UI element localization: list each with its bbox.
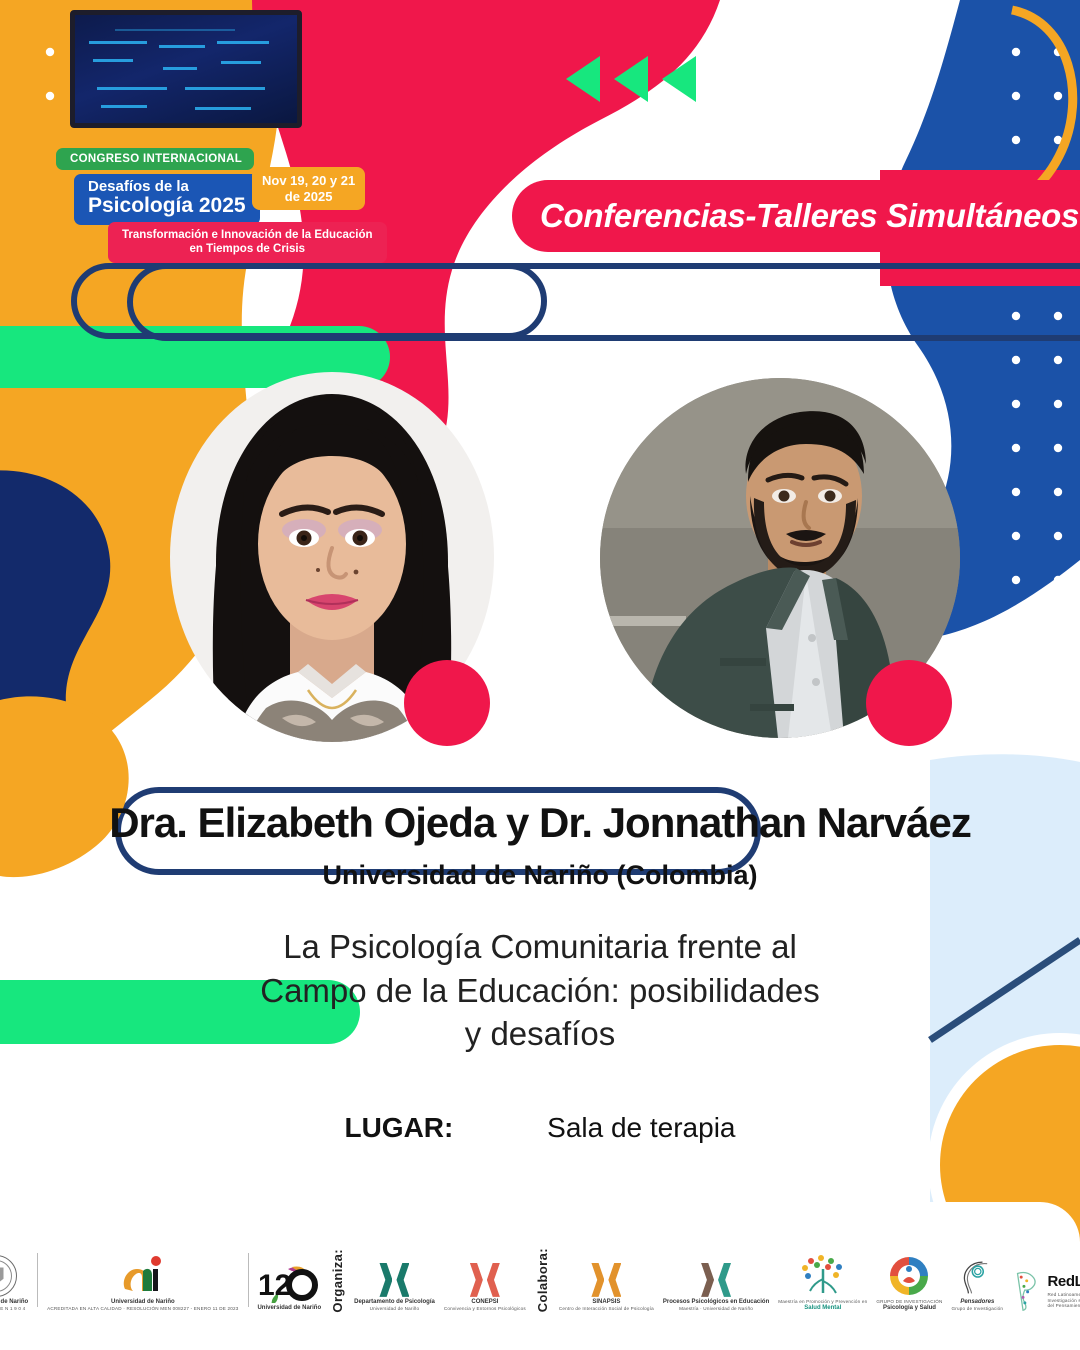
logo-udenar-seal: Universidad de Nariño F U N D A D A E N … — [0, 1255, 28, 1312]
congress-subtitle: Transformación e Innovación de la Educac… — [108, 222, 387, 263]
logo-caption: Universidad de Nariño F U N D A D A E N … — [0, 1299, 28, 1312]
place-row: LUGAR: Sala de terapia — [0, 1112, 1080, 1144]
logo-caption: Departamento de Psicología Universidad d… — [354, 1299, 435, 1312]
logo-redlidep: RedLidep Red Latinoamericana de Investig… — [1012, 1268, 1080, 1312]
logo-caption: Universidad de Nariño — [257, 1305, 321, 1313]
triangle-left-icon — [614, 56, 648, 102]
talk-title: La Psicología Comunitaria frente al Camp… — [0, 925, 1080, 1056]
logo-caption-main: Procesos Psicológicos en Educación — [663, 1299, 769, 1305]
congress-subtitle-line1: Transformación e Innovación de la Educac… — [122, 229, 373, 241]
logo-caption: RedLidep Red Latinoamericana de Investig… — [1047, 1273, 1080, 1309]
logo-salud-mental: Maestría en Promoción y Prevención en Sa… — [778, 1253, 867, 1312]
congress-dates-line2: de 2025 — [285, 189, 333, 204]
place-label: LUGAR: — [344, 1112, 453, 1143]
accent-dot-left — [404, 660, 490, 746]
logo-caption-sub: Maestría · Universidad de Nariño — [663, 1306, 769, 1312]
logo-caption-sub: ACREDITADA EN ALTA CALIDAD · RESOLUCIÓN … — [47, 1306, 238, 1312]
place-value: Sala de terapia — [547, 1112, 735, 1144]
logo-caption-sub: Convivencia y Entornos Psicológicos — [444, 1306, 526, 1312]
logo-caption: SINAPSIS Centro de Interacción Social de… — [559, 1299, 654, 1312]
logo-caption-main: Universidad de Nariño — [111, 1299, 175, 1305]
logo-caption-sub: Centro de Interacción Social de Psicolog… — [559, 1306, 654, 1312]
congress-title-line1: Desafíos de la — [88, 179, 246, 195]
speaker-affiliation: Universidad de Nariño (Colombia) — [0, 860, 1080, 891]
poster-canvas: CONGRESO INTERNACIONAL Desafíos de la Ps… — [0, 0, 1080, 1350]
banner-label: Conferencias-Talleres Simultáneos — [512, 197, 1079, 235]
logo-caption-sub: Red Latinoamericana de Investigación sob… — [1047, 1292, 1080, 1309]
logo-caption-sub: Universidad de Nariño — [354, 1306, 435, 1312]
logo-departamento-psicologia: Departamento de Psicología Universidad d… — [354, 1263, 435, 1312]
talk-title-line2: Campo de la Educación: posibilidades — [0, 969, 1080, 1013]
congress-dates: Nov 19, 20 y 21 de 2025 — [252, 167, 365, 210]
logo-psicologia-y-salud: GRUPO DE INVESTIGACIÓN Psicología y Salu… — [876, 1255, 942, 1312]
organiza-label: Organiza: — [330, 1249, 345, 1313]
divider — [37, 1253, 38, 1307]
logo-caption: CONEPSI Convivencia y Entornos Psicológi… — [444, 1299, 526, 1312]
logo-caption-main: Pensadores — [960, 1299, 994, 1305]
x-butterfly-icon — [701, 1263, 731, 1297]
latin-america-map-icon — [1012, 1268, 1043, 1312]
logo-conepsi: CONEPSI Convivencia y Entornos Psicológi… — [444, 1263, 526, 1312]
congress-subtitle-line2: en Tiempos de Crisis — [190, 243, 305, 255]
speaker-names: Dra. Elizabeth Ojeda y Dr. Jonnathan Nar… — [0, 800, 1080, 846]
x-butterfly-icon — [470, 1263, 500, 1297]
logo-caption-main: Psicología y Salud — [883, 1305, 936, 1311]
logo-caption: Pensadores Grupo de Investigación — [952, 1299, 1004, 1312]
logo-caption-main: Universidad de Nariño — [0, 1299, 28, 1305]
divider — [248, 1253, 249, 1307]
logo-caption: GRUPO DE INVESTIGACIÓN Psicología y Salu… — [876, 1299, 942, 1312]
congress-illustration-screen — [70, 10, 302, 128]
logo-120-anos: 12 Universidad de Nariño — [257, 1263, 321, 1313]
congress-kicker: CONGRESO INTERNACIONAL — [56, 148, 254, 170]
logo-caption-main: Departamento de Psicología — [354, 1299, 435, 1305]
talk-title-line1: La Psicología Comunitaria frente al — [0, 925, 1080, 969]
congress-title-line2: Psicología 2025 — [88, 195, 246, 218]
head-spiral-icon — [959, 1257, 995, 1297]
logo-caption: Maestría en Promoción y Prevención en Sa… — [778, 1299, 867, 1312]
logo-caption-sub: F U N D A D A E N 1 9 0 4 — [0, 1306, 28, 1312]
green-arrows-decoration — [566, 56, 696, 102]
ai-mark-icon — [119, 1255, 167, 1297]
logo-caption: Procesos Psicológicos en Educación Maest… — [663, 1299, 769, 1312]
logo-caption-main: Universidad de Nariño — [257, 1305, 321, 1311]
congress-logo-card: CONGRESO INTERNACIONAL Desafíos de la Ps… — [56, 10, 356, 128]
logo-caption-main: RedLidep — [1047, 1273, 1080, 1290]
simultaneous-sessions-banner: Conferencias-Talleres Simultáneos — [512, 180, 1080, 252]
logo-caption-sub: Grupo de Investigación — [952, 1306, 1004, 1312]
sponsor-logo-strip: Universidad de Nariño F U N D A D A E N … — [0, 1202, 1080, 1350]
logo-row: Universidad de Nariño F U N D A D A E N … — [0, 1240, 1080, 1312]
tree-hands-icon — [797, 1253, 849, 1297]
people-circle-icon — [888, 1255, 930, 1297]
logo-pensadores: Pensadores Grupo de Investigación — [952, 1257, 1004, 1312]
talk-title-line3: y desafíos — [0, 1012, 1080, 1056]
logo-caption-main: SINAPSIS — [592, 1299, 620, 1305]
accent-dot-right — [866, 660, 952, 746]
session-details: Dra. Elizabeth Ojeda y Dr. Jonnathan Nar… — [0, 800, 1080, 1144]
university-seal-icon — [0, 1255, 17, 1297]
logo-sinapsis: SINAPSIS Centro de Interacción Social de… — [559, 1263, 654, 1312]
congress-title: Desafíos de la Psicología 2025 — [74, 174, 260, 225]
congress-dates-line1: Nov 19, 20 y 21 — [262, 173, 355, 188]
logo-acreditacion-ai: Universidad de Nariño ACREDITADA EN ALTA… — [47, 1255, 238, 1312]
logo-caption-main: CONEPSI — [471, 1299, 498, 1305]
logo-caption: Universidad de Nariño ACREDITADA EN ALTA… — [47, 1299, 238, 1312]
triangle-left-icon — [662, 56, 696, 102]
triangle-left-icon — [566, 56, 600, 102]
colabora-label: Colabora: — [535, 1248, 550, 1312]
logo-caption-main: Salud Mental — [804, 1305, 841, 1311]
logo-maestria-procesos: Procesos Psicológicos en Educación Maest… — [663, 1263, 769, 1312]
x-butterfly-icon — [379, 1263, 409, 1297]
120-anniversary-icon: 12 — [258, 1263, 320, 1303]
x-butterfly-icon — [591, 1263, 621, 1297]
